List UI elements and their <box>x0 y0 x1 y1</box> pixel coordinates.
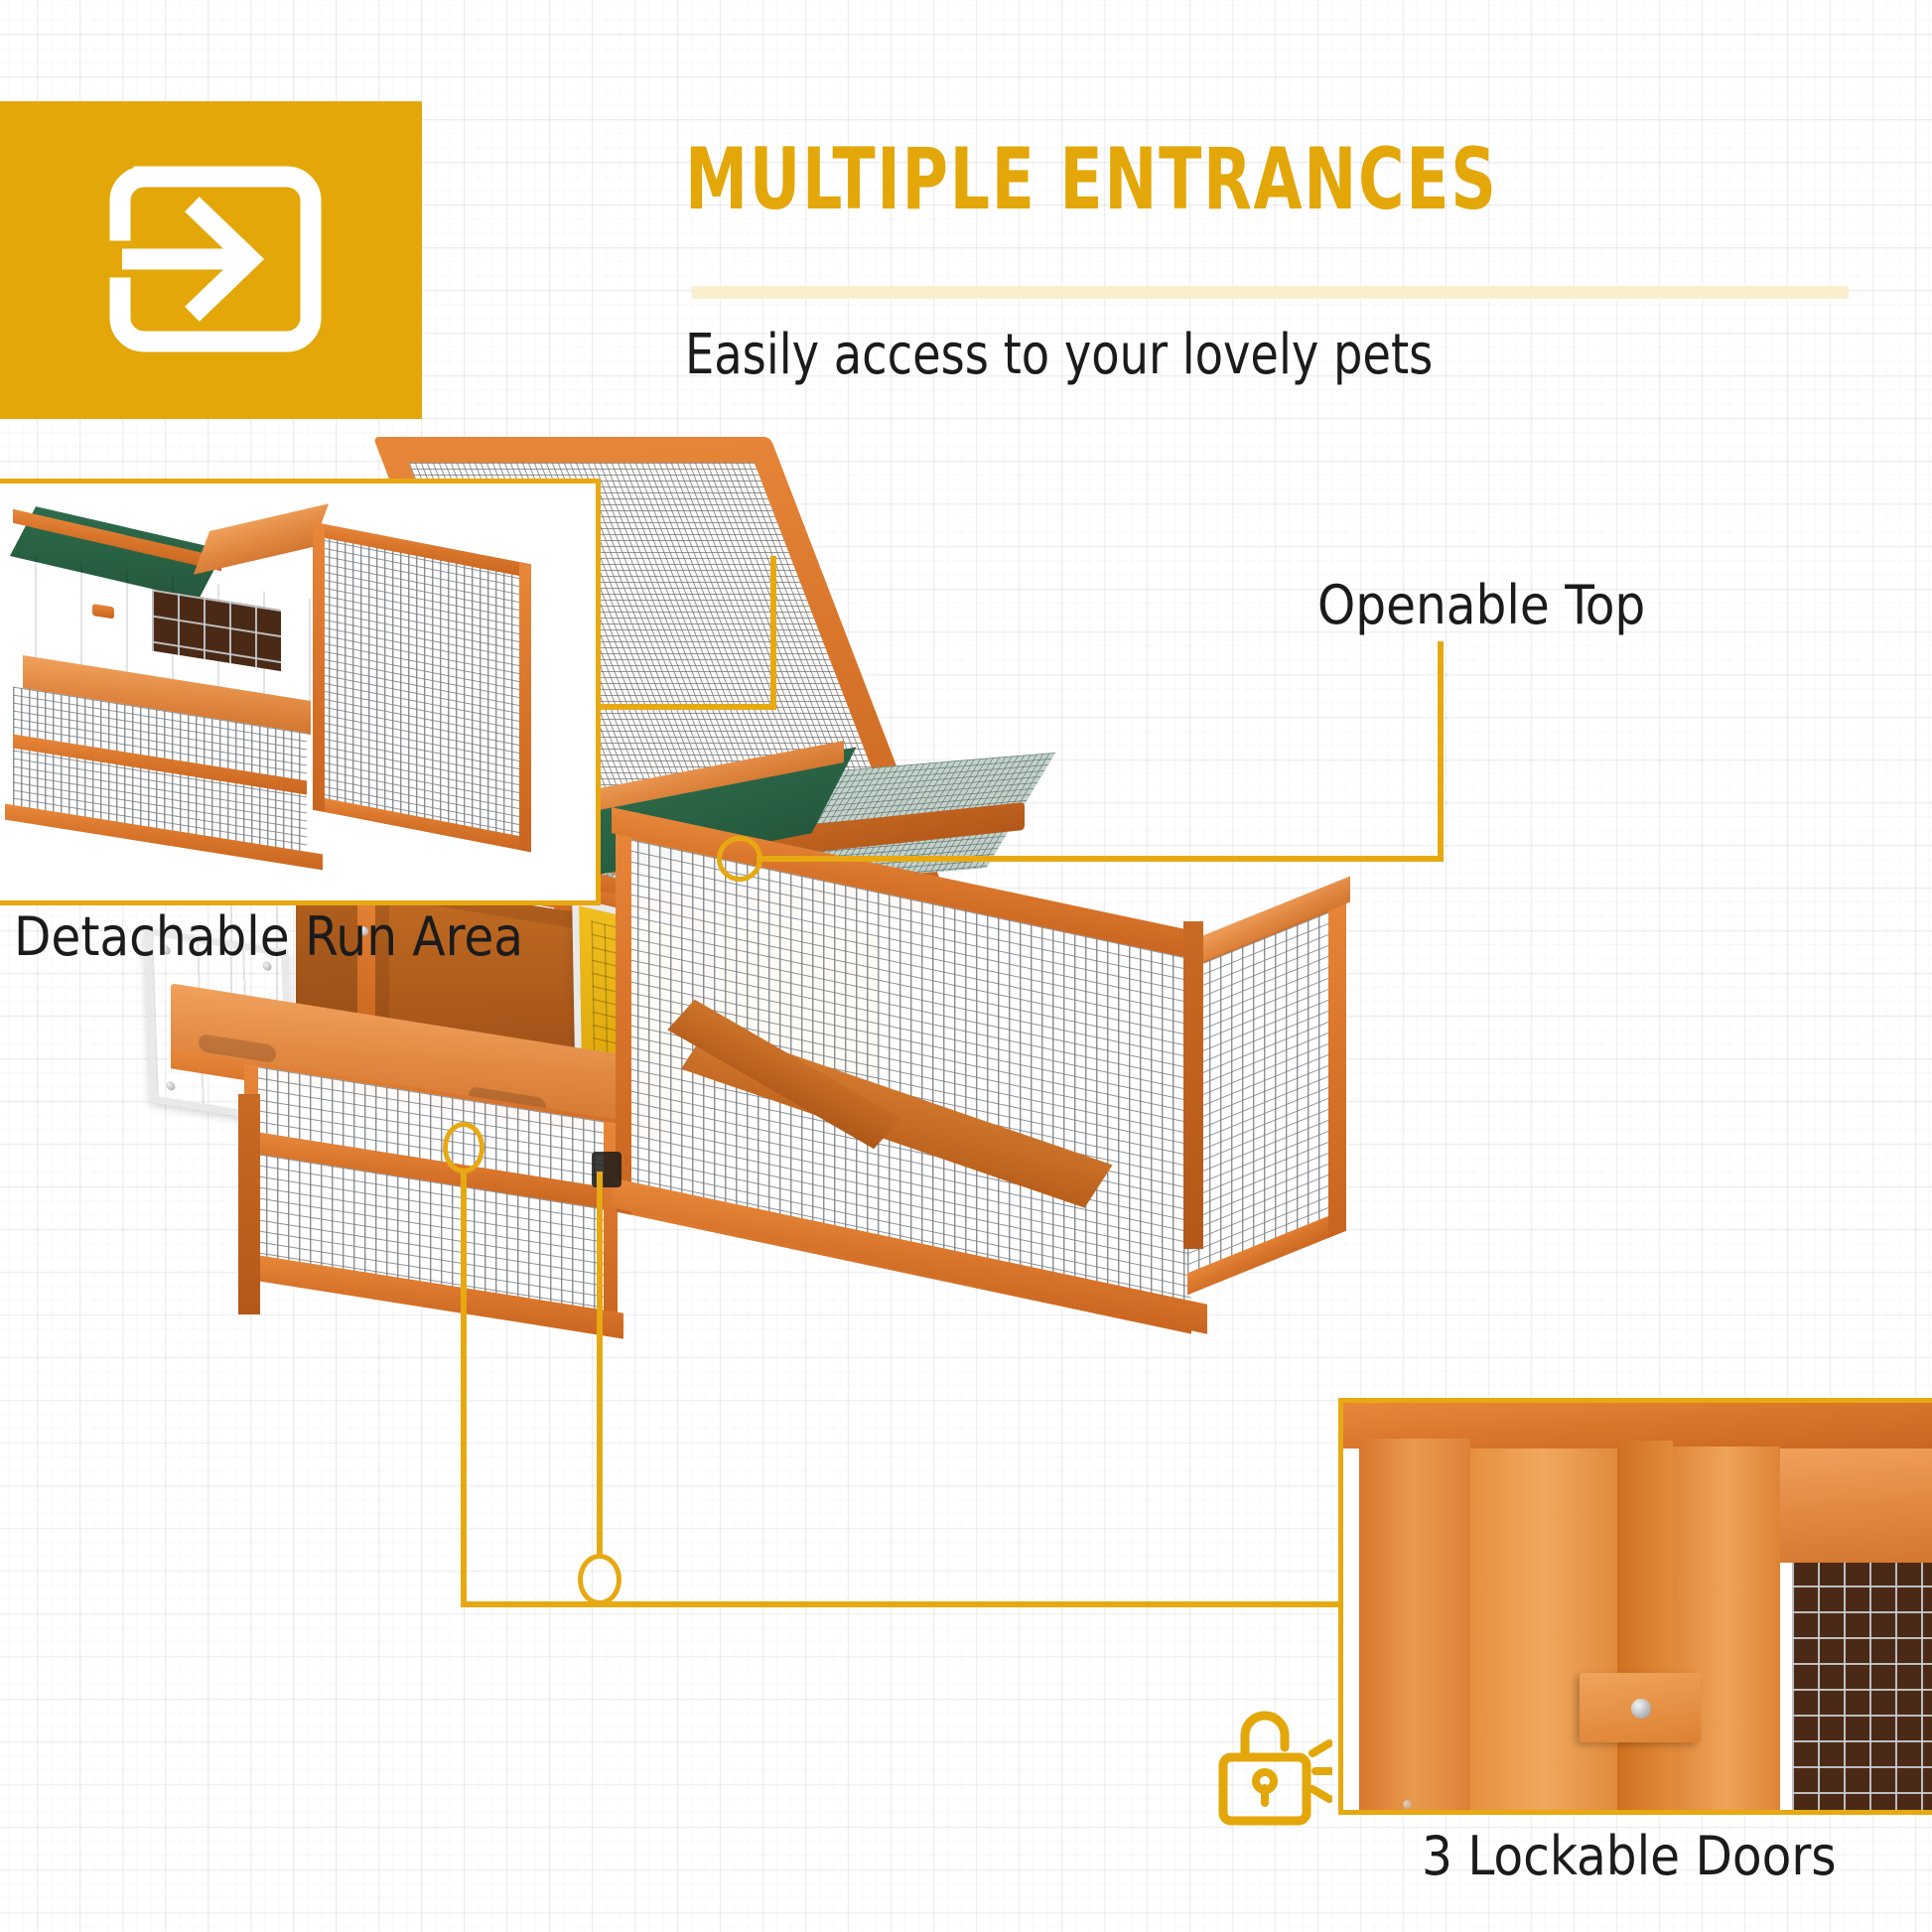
inset-detachable-run <box>0 479 601 905</box>
inset-hutch-photo <box>0 483 596 900</box>
run-corner-post <box>1183 921 1203 1249</box>
enter-arrow-icon <box>82 149 341 369</box>
inset-detachable-run-label: Detachable Run Area <box>14 905 523 968</box>
callout-marker-door-latch-upper <box>443 1122 484 1173</box>
callout-label-openable-top: Openable Top <box>1317 574 1645 636</box>
open-padlock-icon <box>1213 1700 1332 1831</box>
header-icon-block <box>0 101 422 419</box>
title-divider <box>692 286 1849 299</box>
callout-line-detachable-run-h <box>596 704 776 710</box>
callout-line-lockable-h <box>461 1601 1414 1607</box>
callout-line-lockable-v2 <box>597 1172 603 1559</box>
inset-door-latch-photo <box>1343 1403 1932 1810</box>
callout-line-openable-top-h <box>757 856 1444 862</box>
infographic-canvas: MULTIPLE ENTRANCES Easily access to your… <box>0 0 1932 1932</box>
callout-line-lockable-v1 <box>461 1172 467 1606</box>
leg-front-left <box>238 1094 260 1314</box>
callout-line-detachable-run-v <box>770 556 776 710</box>
page-subtitle: Easily access to your lovely pets <box>685 318 1781 393</box>
inset-lockable-doors-label: 3 Lockable Doors <box>1422 1825 1837 1887</box>
callout-line-openable-top-v <box>1438 641 1444 860</box>
page-title: MULTIPLE ENTRANCES <box>685 137 1646 222</box>
callout-marker-door-latch-lower <box>578 1554 621 1605</box>
callout-marker-openable-top <box>717 836 762 882</box>
inset-lockable-doors <box>1338 1398 1932 1815</box>
